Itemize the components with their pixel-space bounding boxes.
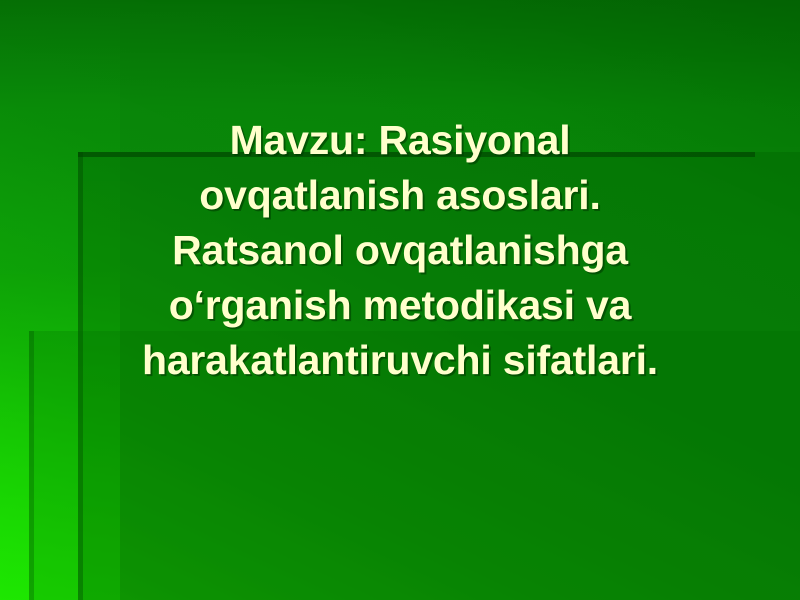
title-line-1: Mavzu: Rasiyonal: [0, 113, 800, 168]
slide-title-lines: Mavzu: Rasiyonal ovqatlanish asoslari. R…: [0, 113, 800, 388]
title-line-5: harakatlantiruvchi sifatlari.: [0, 333, 800, 388]
title-line-2: ovqatlanish asoslari.: [0, 168, 800, 223]
presentation-slide: Mavzu: Rasiyonal ovqatlanish asoslari. R…: [0, 0, 800, 600]
title-line-4: oʻrganish metodikasi va: [0, 278, 800, 333]
title-line-3: Ratsanol ovqatlanishga: [0, 223, 800, 278]
slide-title-block: Mavzu: Rasiyonal ovqatlanish asoslari. R…: [0, 0, 800, 600]
